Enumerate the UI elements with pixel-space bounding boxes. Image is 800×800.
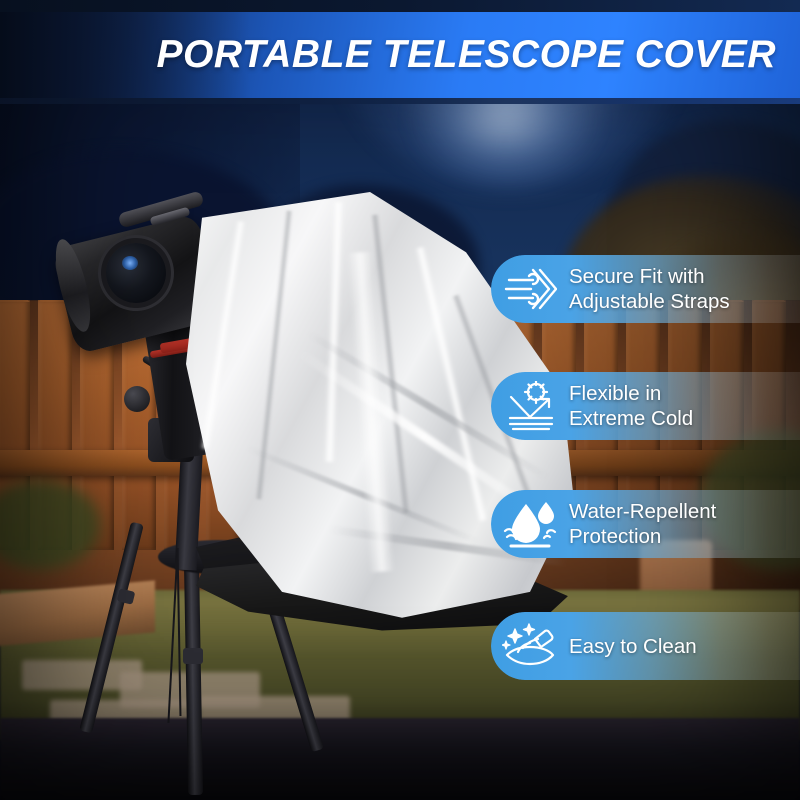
- page-title: PORTABLE TELESCOPE COVER: [0, 12, 800, 98]
- feature-label: Secure Fit with Adjustable Straps: [569, 264, 730, 314]
- product-feature-image: PORTABLE TELESCOPE COVER Secure Fit with…: [0, 0, 800, 800]
- wind-arrow-icon: [491, 255, 569, 323]
- hand-sponge-sparkle-icon: [491, 612, 569, 680]
- tripod-leg-left: [79, 522, 144, 734]
- mount-adjust-knob[interactable]: [124, 386, 150, 412]
- tripod-leg-joint: [183, 648, 203, 664]
- feature-pill-easy-clean[interactable]: Easy to Clean: [491, 612, 800, 680]
- feature-label: Flexible in Extreme Cold: [569, 381, 693, 431]
- banner-bottom-strip: [0, 98, 800, 104]
- feature-pill-secure-fit[interactable]: Secure Fit with Adjustable Straps: [491, 255, 800, 323]
- banner-top-strip: [0, 0, 800, 12]
- feature-pill-flexible-cold[interactable]: Flexible in Extreme Cold: [491, 372, 800, 440]
- feature-label: Water-Repellent Protection: [569, 499, 716, 549]
- water-droplet-icon: [491, 490, 569, 558]
- feature-pill-water-repellent[interactable]: Water-Repellent Protection: [491, 490, 800, 558]
- sun-reflect-surface-icon: [491, 372, 569, 440]
- lens-glint: [122, 256, 138, 270]
- feature-label: Easy to Clean: [569, 634, 697, 659]
